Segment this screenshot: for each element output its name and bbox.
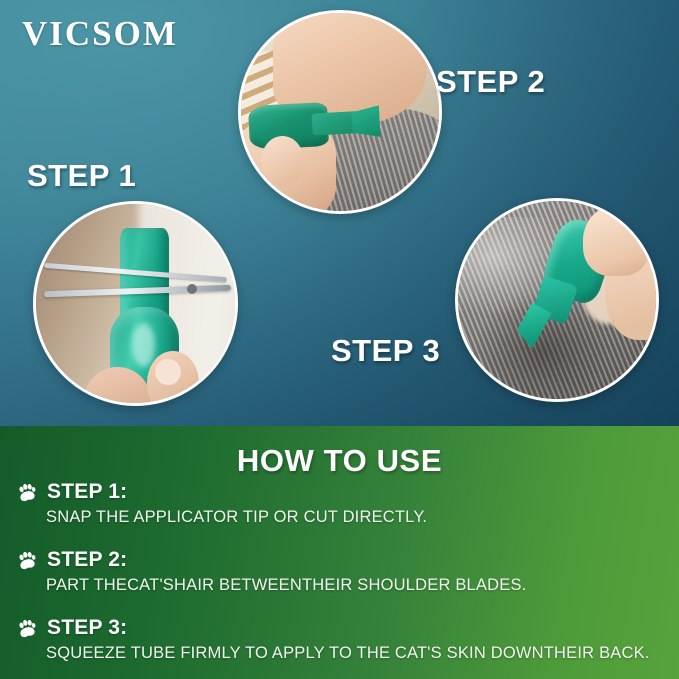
instructions-title: HOW TO USE	[0, 443, 679, 479]
hero-step-1-label: STEP 1	[27, 158, 136, 194]
instruction-step-text: SNAP THE APPLICATOR TIP OR CUT DIRECTLY.	[46, 508, 666, 527]
step-2-photo-circle	[238, 10, 442, 214]
paw-print-icon	[16, 549, 38, 571]
step-2-photo	[241, 13, 439, 211]
instruction-step-key: STEP 2:	[47, 548, 127, 572]
step-1-photo-circle	[33, 201, 238, 406]
paw-print-icon	[16, 617, 38, 639]
step-3-photo	[458, 201, 656, 399]
paw-print-icon	[16, 481, 38, 503]
product-instruction-graphic: VICSOM	[0, 0, 679, 679]
instruction-item: STEP 1: SNAP THE APPLICATOR TIP OR CUT D…	[16, 480, 666, 527]
instruction-step-text: PART THECAT'SHAIR BETWEENTHEIR SHOULDER …	[46, 576, 666, 595]
thumb-shape	[583, 205, 650, 276]
brand-logo: VICSOM	[22, 14, 178, 54]
hero-step-2-label: STEP 2	[436, 64, 545, 100]
instruction-item: STEP 3: SQUEEZE TUBE FIRMLY TO APPLY TO …	[16, 616, 666, 663]
instruction-item: STEP 2: PART THECAT'SHAIR BETWEENTHEIR S…	[16, 548, 666, 595]
instruction-step-text: SQUEEZE TUBE FIRMLY TO APPLY TO THE CAT'…	[46, 644, 666, 663]
instruction-step-key: STEP 1:	[47, 480, 127, 504]
instruction-step-key: STEP 3:	[47, 616, 127, 640]
scissors-pivot-shape	[187, 284, 197, 294]
instructions-panel: HOW TO USE STEP 1: SNAP THE APPLICATOR T…	[0, 426, 679, 679]
step-1-photo	[36, 204, 235, 403]
instruction-heading: STEP 3:	[16, 616, 666, 640]
hero-step-3-label: STEP 3	[331, 333, 440, 369]
instruction-heading: STEP 2:	[16, 548, 666, 572]
step-3-photo-circle	[455, 198, 659, 402]
instruction-heading: STEP 1:	[16, 480, 666, 504]
